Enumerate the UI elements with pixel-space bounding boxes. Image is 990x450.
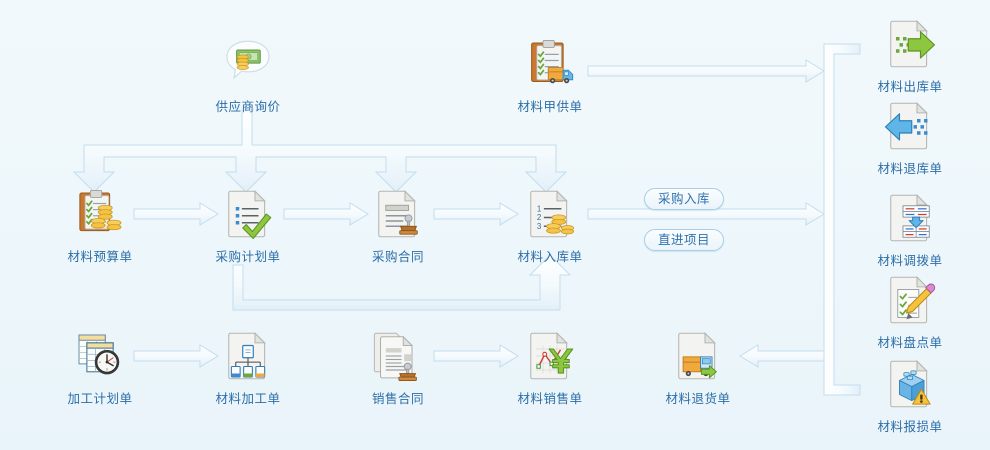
pill-label: 直进项目	[658, 233, 710, 247]
doc-checkmark-icon	[220, 186, 276, 242]
node-label: 材料销售单	[490, 388, 610, 407]
node-material-stocktake[interactable]: 材料盘点单	[850, 272, 970, 351]
svg-text:1: 1	[537, 204, 541, 213]
pill-purchase-inbound[interactable]: 采购入库	[644, 188, 724, 210]
node-label: 材料甲供单	[490, 96, 610, 115]
node-label: 材料调拨单	[850, 250, 970, 269]
node-supplier-quote[interactable]: 供应商询价	[188, 36, 308, 115]
node-label: 材料出库单	[850, 76, 970, 95]
doc-number-coins-icon: 1 2 3	[522, 186, 578, 242]
node-material-transfer[interactable]: 材料调拨单	[850, 190, 970, 269]
svg-text:3: 3	[537, 222, 542, 231]
doc-arrow-left-blue-icon	[882, 98, 938, 154]
distribution-bus	[74, 110, 566, 192]
flow-diagram-canvas: 供应商询价 材料甲供单	[0, 0, 990, 450]
doc-box-truck-return-icon	[670, 328, 726, 384]
node-label: 加工计划单	[40, 388, 160, 407]
pill-direct-project[interactable]: 直进项目	[644, 229, 724, 251]
node-process-plan[interactable]: 加工计划单	[40, 328, 160, 407]
node-label: 供应商询价	[188, 96, 308, 115]
node-label: 材料退库单	[850, 158, 970, 177]
svg-text:2: 2	[537, 213, 541, 222]
node-label: 材料退货单	[638, 388, 758, 407]
doc-transfer-icon	[882, 190, 938, 246]
node-material-inbound[interactable]: 1 2 3 材料入库单	[490, 186, 610, 265]
docs-stamp-icon	[370, 328, 426, 384]
doc-arrow-right-green-icon	[882, 16, 938, 72]
arrow-supply-to-right-bus	[588, 60, 824, 82]
node-material-return[interactable]: 材料退货单	[638, 328, 758, 407]
doc-hierarchy-icon	[220, 328, 276, 384]
pill-label: 采购入库	[658, 192, 710, 206]
node-purchase-contract[interactable]: 采购合同	[338, 186, 458, 265]
node-label: 材料加工单	[188, 388, 308, 407]
node-label: 材料预算单	[40, 246, 160, 265]
node-material-sales[interactable]: 材料销售单	[490, 328, 610, 407]
node-label: 销售合同	[338, 388, 458, 407]
node-label: 采购计划单	[188, 246, 308, 265]
node-purchase-plan[interactable]: 采购计划单	[188, 186, 308, 265]
node-material-outbound[interactable]: 材料出库单	[850, 16, 970, 95]
node-material-supply[interactable]: 材料甲供单	[490, 36, 610, 115]
clipboard-truck-icon	[522, 36, 578, 92]
node-material-refund[interactable]: 材料退库单	[850, 98, 970, 177]
node-label: 材料盘点单	[850, 332, 970, 351]
node-material-budget[interactable]: 材料预算单	[40, 186, 160, 265]
node-label: 材料入库单	[490, 246, 610, 265]
node-label: 采购合同	[338, 246, 458, 265]
speech-bubble-money-icon	[220, 36, 276, 92]
doc-chart-yen-icon	[522, 328, 578, 384]
node-material-process[interactable]: 材料加工单	[188, 328, 308, 407]
doc-stamp-icon	[370, 186, 426, 242]
table-clock-icon	[72, 328, 128, 384]
clipboard-coins-icon	[72, 186, 128, 242]
node-material-damage[interactable]: 材料报损单	[850, 356, 970, 435]
node-label: 材料报损单	[850, 416, 970, 435]
node-sales-contract[interactable]: 销售合同	[338, 328, 458, 407]
doc-pencil-check-icon	[882, 272, 938, 328]
doc-box-warning-icon	[882, 356, 938, 412]
